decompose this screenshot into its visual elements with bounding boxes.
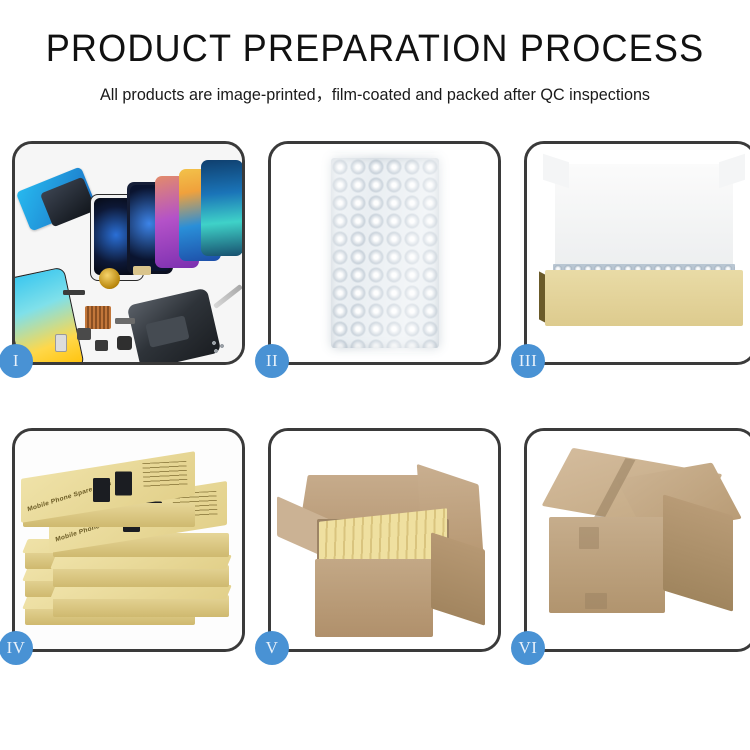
sealed-carton-right bbox=[663, 494, 733, 611]
step-panel-6: VI bbox=[524, 428, 750, 652]
step-badge-4: IV bbox=[0, 631, 33, 665]
spec-text-lines-back bbox=[142, 461, 187, 489]
retail-box-r2-top bbox=[50, 555, 232, 569]
step-6-image bbox=[527, 431, 750, 649]
carton-front-panel bbox=[315, 559, 433, 637]
product-photo-back-b bbox=[115, 472, 132, 496]
flex-cable-icon bbox=[63, 290, 85, 295]
page-subtitle: All products are image-printed，film-coat… bbox=[8, 81, 743, 105]
retail-box-stack: Mobile Phone Spare Parts Mobile Phone Sp… bbox=[19, 445, 242, 641]
step-4-image: Mobile Phone Spare Parts Mobile Phone Sp… bbox=[15, 431, 242, 649]
process-steps-grid: I II III bbox=[12, 141, 738, 652]
step-badge-6: VI bbox=[511, 631, 545, 665]
tweezers-icon bbox=[213, 284, 242, 309]
step-3-image bbox=[527, 144, 750, 362]
bubble-wrap-icon bbox=[331, 158, 439, 348]
earpiece-module-icon bbox=[117, 336, 132, 350]
ic-chip-board-icon bbox=[85, 306, 111, 329]
gold-contact-icon bbox=[133, 266, 151, 275]
step-badge-3: III bbox=[511, 344, 545, 378]
carton-right-panel bbox=[431, 532, 485, 626]
step-badge-2: II bbox=[255, 344, 289, 378]
camera-module-icon bbox=[77, 328, 91, 340]
sealed-carton-front bbox=[549, 517, 665, 613]
phone-back-housing-icon bbox=[127, 288, 222, 362]
step-badge-1: I bbox=[0, 344, 33, 378]
step-2-image bbox=[271, 144, 498, 362]
step-panel-2: II bbox=[268, 141, 501, 365]
box-lid-icon bbox=[555, 164, 733, 272]
vibration-motor-icon bbox=[99, 268, 120, 289]
connector-strip-icon bbox=[115, 318, 135, 324]
product-photo-back-a bbox=[93, 478, 110, 502]
kraft-tray-icon bbox=[545, 270, 743, 326]
step-panel-1: I bbox=[12, 141, 245, 365]
screws-icon bbox=[211, 340, 227, 354]
carton-handle-tab-bottom bbox=[585, 593, 607, 609]
step-panel-5: V bbox=[268, 428, 501, 652]
step-1-image bbox=[15, 144, 242, 362]
step-panel-4: Mobile Phone Spare Parts Mobile Phone Sp… bbox=[12, 428, 245, 652]
step-badge-5: V bbox=[255, 631, 289, 665]
page-title: PRODUCT PREPARATION PROCESS bbox=[19, 30, 732, 70]
step-panel-3: III bbox=[524, 141, 750, 365]
step-5-image bbox=[271, 431, 498, 649]
carton-handle-tab-top bbox=[579, 527, 599, 549]
speaker-module-icon bbox=[95, 340, 108, 351]
retail-box-r3-top bbox=[50, 585, 232, 599]
sim-tray-icon bbox=[55, 334, 67, 352]
page-header: PRODUCT PREPARATION PROCESS All products… bbox=[0, 0, 750, 105]
phone-teal-gradient-icon bbox=[201, 160, 242, 256]
